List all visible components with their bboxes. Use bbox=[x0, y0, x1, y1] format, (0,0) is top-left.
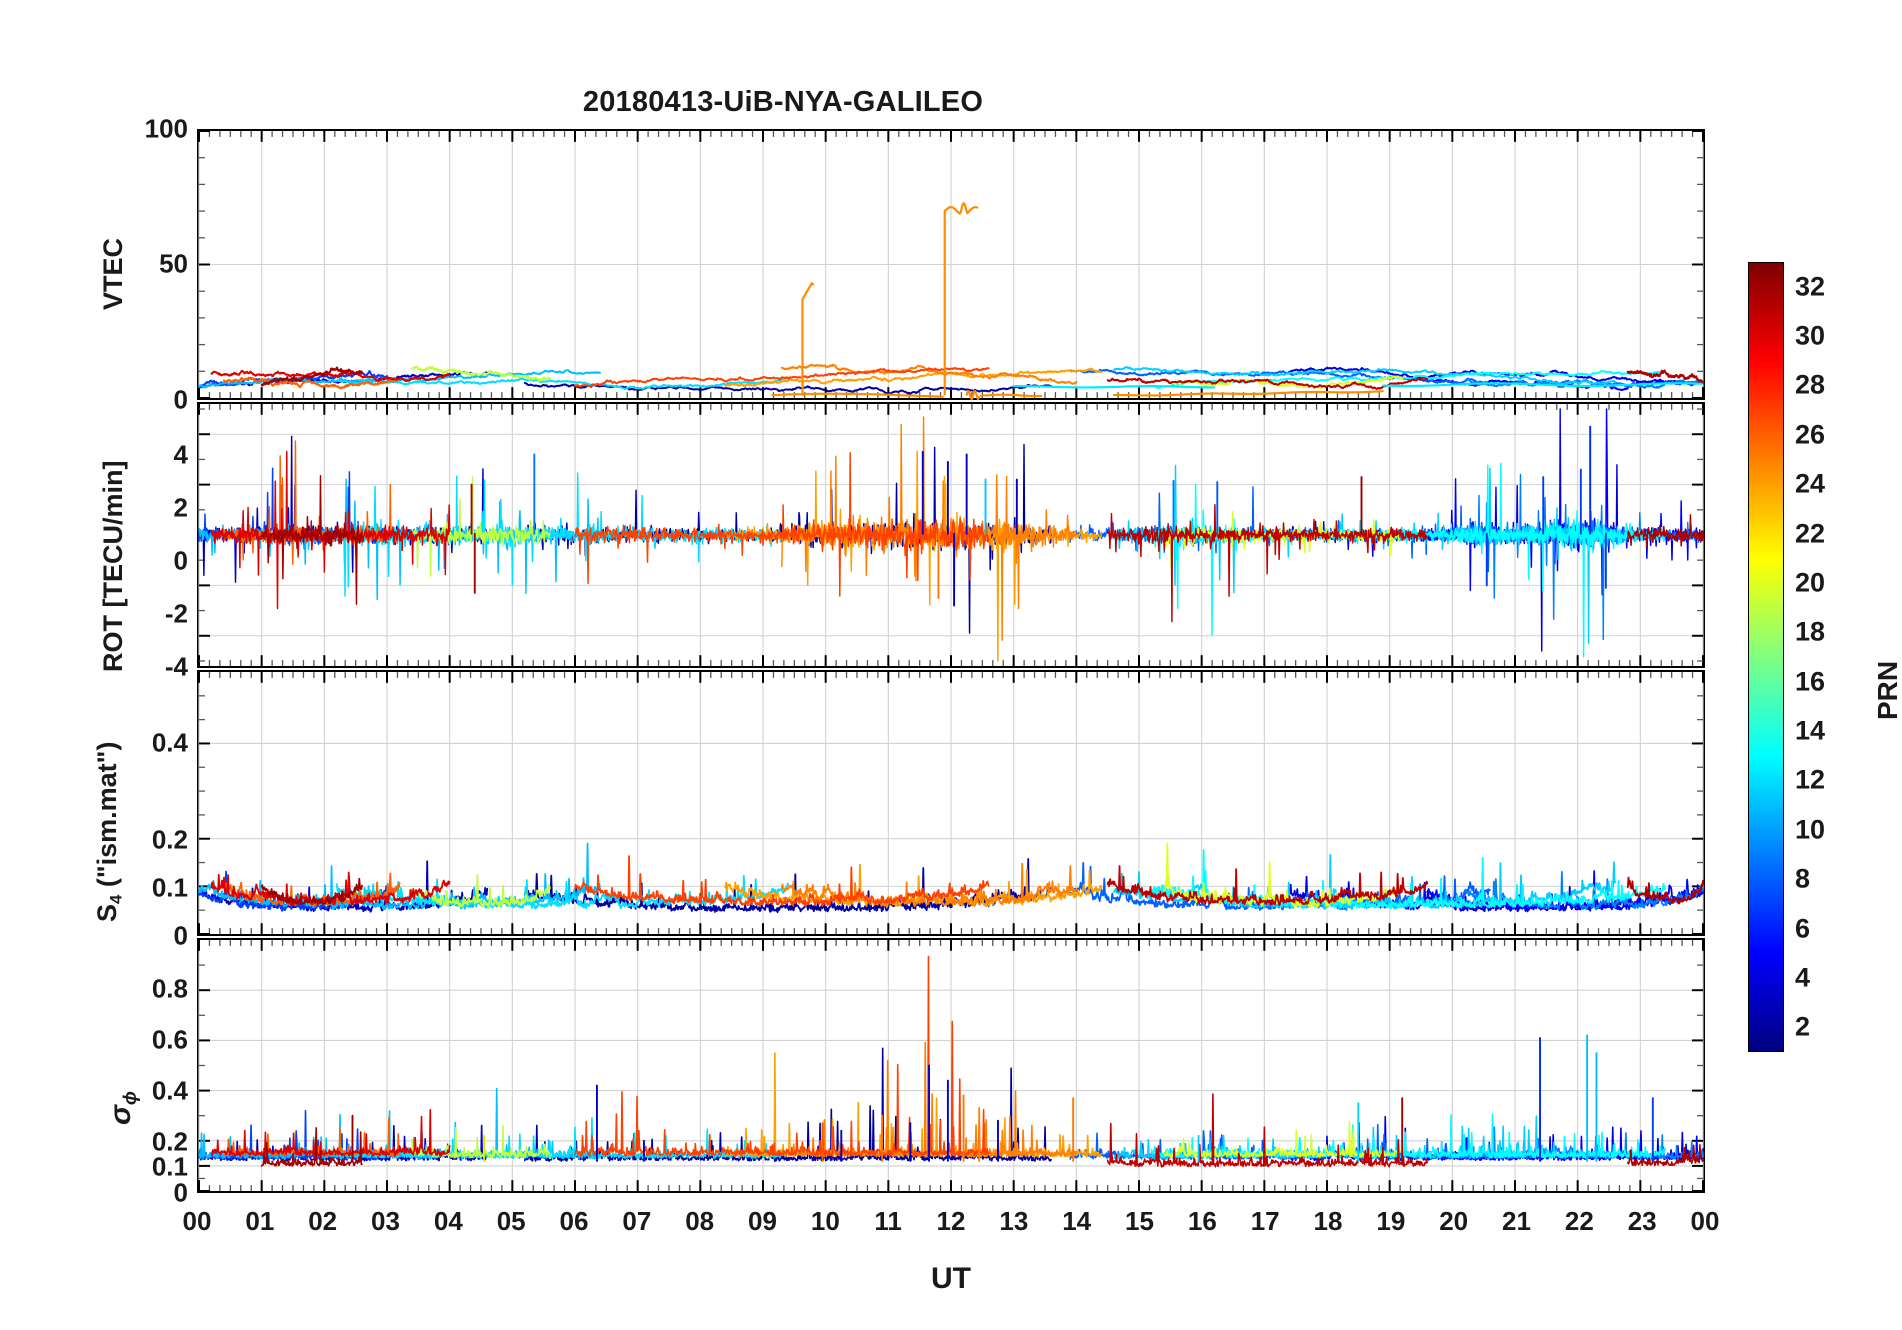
colorbar-tick-4: 4 bbox=[1795, 962, 1810, 993]
x-tick-12-12: 12 bbox=[921, 1206, 981, 1237]
x-tick-16-16: 16 bbox=[1172, 1206, 1232, 1237]
colorbar-tick-28: 28 bbox=[1795, 370, 1825, 401]
x-tick-07-7: 07 bbox=[607, 1206, 667, 1237]
colorbar-tick-32: 32 bbox=[1795, 271, 1825, 302]
colorbar-label: PRN bbox=[1872, 661, 1902, 720]
colorbar-tick-22: 22 bbox=[1795, 518, 1825, 549]
x-tick-21-21: 21 bbox=[1487, 1206, 1547, 1237]
colorbar-tick-24: 24 bbox=[1795, 469, 1825, 500]
x-tick-02-2: 02 bbox=[293, 1206, 353, 1237]
vtec-ylabel: VTEC bbox=[98, 238, 129, 310]
sigma-phi-ylabel: σϕ bbox=[104, 1091, 141, 1125]
colorbar-tick-18: 18 bbox=[1795, 617, 1825, 648]
colorbar-tick-20: 20 bbox=[1795, 567, 1825, 598]
x-tick-05-5: 05 bbox=[481, 1206, 541, 1237]
x-tick-08-8: 08 bbox=[670, 1206, 730, 1237]
colorbar-tick-8: 8 bbox=[1795, 864, 1810, 895]
colorbar-tick-10: 10 bbox=[1795, 814, 1825, 845]
sigma-symbol: σ bbox=[104, 1105, 137, 1125]
x-tick-00-0: 00 bbox=[167, 1206, 227, 1237]
x-tick-17-17: 17 bbox=[1235, 1206, 1295, 1237]
s4-ylabel-sub: 4 bbox=[106, 895, 125, 904]
sigma-phi-panel bbox=[197, 938, 1705, 1193]
colorbar-tick-2: 2 bbox=[1795, 1012, 1810, 1043]
vtec-ytick-100: 100 bbox=[110, 114, 188, 145]
x-tick-15-15: 15 bbox=[1110, 1206, 1170, 1237]
x-tick-13-13: 13 bbox=[984, 1206, 1044, 1237]
x-tick-04-4: 04 bbox=[418, 1206, 478, 1237]
figure-canvas: 20180413-UiB-NYA-GALILEO 100 50 0 VTEC 4… bbox=[0, 0, 1902, 1330]
s4-ylabel-main: S bbox=[92, 904, 122, 922]
sp-ytick-0: 0 bbox=[90, 1178, 188, 1209]
colorbar bbox=[1748, 262, 1784, 1052]
s4-ylabel-rest: ("ism.mat") bbox=[92, 742, 122, 895]
x-tick-09-9: 09 bbox=[733, 1206, 793, 1237]
phi-subscript: ϕ bbox=[119, 1091, 140, 1105]
sp-ytick-06: 0.6 bbox=[90, 1025, 188, 1056]
x-tick-18-18: 18 bbox=[1298, 1206, 1358, 1237]
x-tick-11-11: 11 bbox=[858, 1206, 918, 1237]
s4-ylabel: S4 ("ism.mat") bbox=[92, 742, 126, 922]
colorbar-tick-6: 6 bbox=[1795, 913, 1810, 944]
x-tick-01-1: 01 bbox=[230, 1206, 290, 1237]
x-axis-label: UT bbox=[0, 1262, 1902, 1296]
colorbar-tick-30: 30 bbox=[1795, 321, 1825, 352]
x-tick-19-19: 19 bbox=[1361, 1206, 1421, 1237]
sp-ytick-08: 0.8 bbox=[90, 974, 188, 1005]
x-tick-14-14: 14 bbox=[1047, 1206, 1107, 1237]
x-tick-03-3: 03 bbox=[356, 1206, 416, 1237]
figure-title-text: 20180413-UiB-NYA-GALILEO bbox=[583, 86, 983, 119]
x-tick-20-20: 20 bbox=[1424, 1206, 1484, 1237]
x-tick-10-10: 10 bbox=[795, 1206, 855, 1237]
x-tick-06-6: 06 bbox=[544, 1206, 604, 1237]
rot-panel bbox=[197, 402, 1705, 668]
vtec-panel bbox=[197, 129, 1705, 400]
colorbar-tick-12: 12 bbox=[1795, 765, 1825, 796]
x-tick-23-23: 23 bbox=[1612, 1206, 1672, 1237]
s4-panel bbox=[197, 670, 1705, 936]
colorbar-tick-26: 26 bbox=[1795, 419, 1825, 450]
x-tick-00-24: 00 bbox=[1675, 1206, 1735, 1237]
colorbar-tick-14: 14 bbox=[1795, 716, 1825, 747]
s4-ytick-0: 0 bbox=[90, 921, 188, 952]
colorbar-tick-16: 16 bbox=[1795, 666, 1825, 697]
vtec-ytick-0: 0 bbox=[110, 385, 188, 416]
x-tick-22-22: 22 bbox=[1549, 1206, 1609, 1237]
rot-ylabel: ROT [TECU/min] bbox=[98, 461, 129, 672]
figure-title: 20180413-UiB-NYA-GALILEO bbox=[0, 86, 1902, 119]
